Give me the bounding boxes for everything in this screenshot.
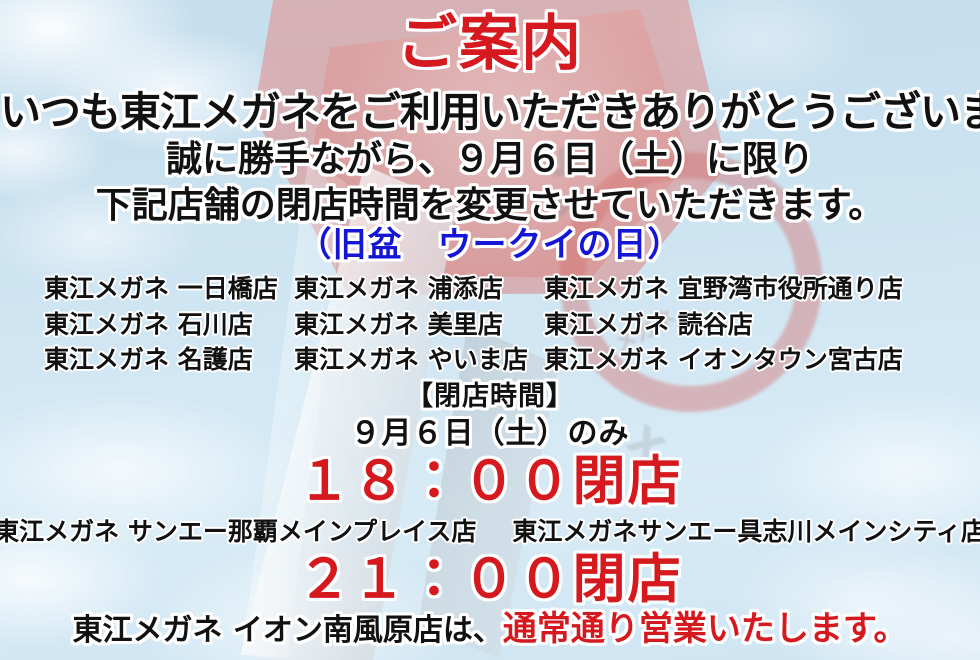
footer-status-text: 通常通り営業いたします。 (503, 612, 908, 646)
store-item: 東江メガネサンエー具志川メインシティ店 (512, 517, 980, 548)
obon-note: （旧盆 ウークイの日） (0, 228, 980, 262)
store-item: 東江メガネ 名護店 (44, 345, 294, 376)
store-item: 東江メガネ 一日橋店 (44, 274, 294, 305)
store-item: 東江メガネ やいま店 (294, 345, 544, 376)
store-item: 東江メガネ イオンタウン宮古店 (544, 345, 942, 376)
store-item: 東江メガネ 石川店 (44, 310, 294, 341)
store-item: 東江メガネ 美里店 (294, 310, 544, 341)
apology-line: 誠に勝手ながら、９月６日（土）に限り (0, 142, 980, 178)
store-item: 東江メガネ 浦添店 (294, 274, 544, 305)
thanks-line: いつも東江メガネをご利用いただきありがとうございます。 (0, 92, 980, 133)
poster-content: ご案内 いつも東江メガネをご利用いただきありがとうございます。 誠に勝手ながら、… (0, 0, 980, 660)
closing-time-18: １８：００閉店 (0, 455, 980, 508)
closing-time-21: ２１：００閉店 (0, 553, 980, 606)
change-notice-line: 下記店舗の閉店時間を変更させていただきます。 (0, 188, 980, 224)
store-item: 東江メガネ 読谷店 (544, 310, 942, 341)
store-list-21: 東江メガネ サンエー那覇メインプレイス店 東江メガネサンエー具志川メインシティ店 (0, 517, 980, 548)
footer-store-name: 東江メガネ イオン南風原店は、 (72, 616, 502, 646)
page-title: ご案内 (0, 14, 980, 74)
footer-note: 東江メガネ イオン南風原店は、 通常通り営業いたします。 (0, 612, 980, 646)
closing-date: ９月６日（土）のみ (0, 419, 980, 449)
store-item: 東江メガネ 宜野湾市役所通り店 (544, 274, 942, 305)
store-item: 東江メガネ サンエー那覇メインプレイス店 (0, 517, 476, 548)
closing-time-heading: 【閉店時間】 (0, 383, 980, 410)
store-list-18: 東江メガネ 一日橋店 東江メガネ 浦添店 東江メガネ 宜野湾市役所通り店 東江メ… (44, 274, 942, 376)
notice-poster: S A X メガネ ご案内 いつも東江メガネをご利用いただきありがとうございます… (0, 0, 980, 660)
